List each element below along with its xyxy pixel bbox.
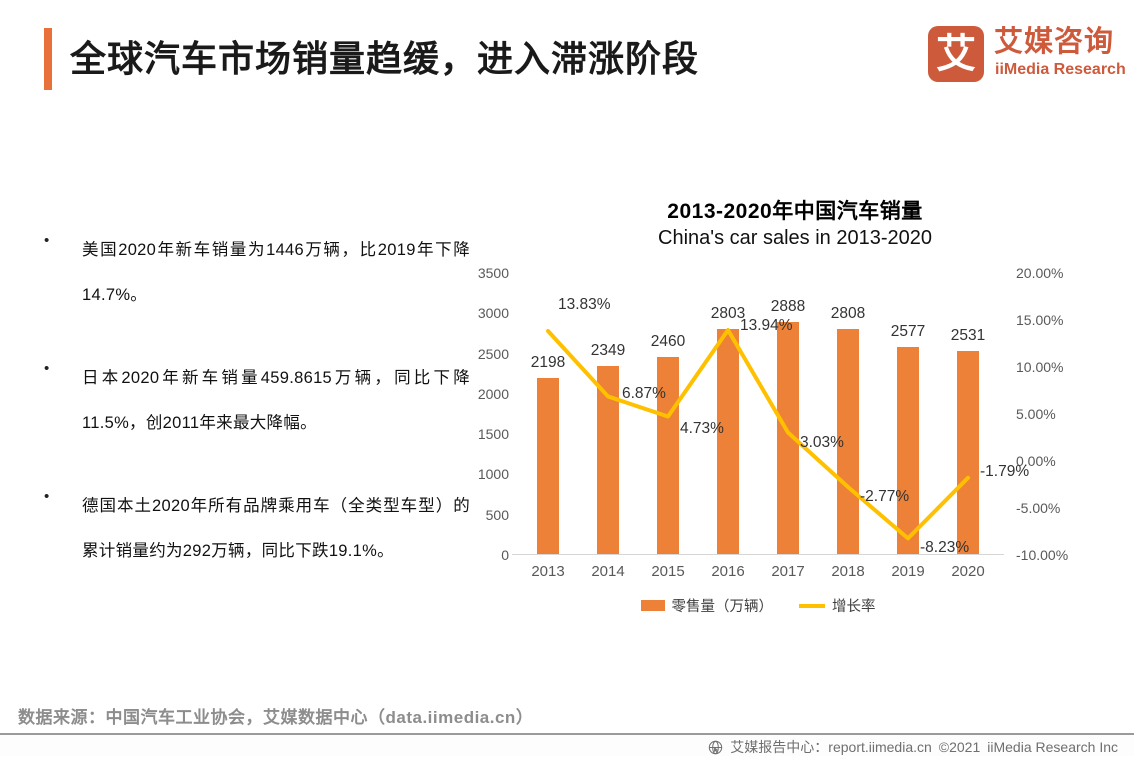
growth-line-series xyxy=(518,273,998,555)
page-title: 全球汽车市场销量趋缓，进入滞涨阶段 xyxy=(70,30,699,88)
y-axis-left-tick: 3500 xyxy=(478,265,509,281)
chart-subtitle: China's car sales in 2013-2020 xyxy=(470,227,1120,250)
chart-legend: 零售量（万辆） 增长率 xyxy=(518,595,998,616)
legend-label-bar: 零售量（万辆） xyxy=(672,595,774,616)
list-item: • 日本2020年新车销量459.8615万辆，同比下降11.5%，创2011年… xyxy=(40,356,470,446)
bullet-marker: • xyxy=(44,232,56,250)
x-axis-tick: 2013 xyxy=(531,563,564,580)
growth-rate-line xyxy=(548,330,968,538)
title-accent-bar xyxy=(44,28,52,90)
x-axis-tick: 2018 xyxy=(831,563,864,580)
legend-item-line: 增长率 xyxy=(799,595,876,616)
chart-title: 2013-2020年中国汽车销量 xyxy=(470,195,1120,225)
list-item: • 德国本土2020年所有品牌乘用车（全类型车型）的累计销量约为292万辆，同比… xyxy=(40,484,470,574)
sales-chart: 2013-2020年中国汽车销量 China's car sales in 20… xyxy=(470,185,1120,625)
growth-rate-label: 4.73% xyxy=(680,420,724,438)
x-axis-tick: 2016 xyxy=(711,563,744,580)
legend-swatch-bar-icon xyxy=(641,600,665,611)
bar-value-label: 2808 xyxy=(831,305,865,323)
y-axis-right-tick: 20.00% xyxy=(1016,265,1063,281)
bullet-text: 美国2020年新车销量为1446万辆，比2019年下降14.7%。 xyxy=(82,228,470,318)
x-axis-tick: 2015 xyxy=(651,563,684,580)
y-axis-right-tick: 5.00% xyxy=(1016,406,1056,422)
y-axis-left-tick: 2500 xyxy=(478,346,509,362)
data-source-note: 数据来源：中国汽车工业协会，艾媒数据中心（data.iimedia.cn） xyxy=(18,703,533,728)
list-item: • 美国2020年新车销量为1446万辆，比2019年下降14.7%。 xyxy=(40,228,470,318)
legend-swatch-line-icon xyxy=(799,604,825,608)
x-axis-tick: 2014 xyxy=(591,563,624,580)
growth-rate-label: 6.87% xyxy=(622,385,666,403)
y-axis-right-tick: -10.00% xyxy=(1016,547,1068,563)
y-axis-left-tick: 0 xyxy=(501,547,509,563)
bullet-marker: • xyxy=(44,360,56,378)
bullet-text: 日本2020年新车销量459.8615万辆，同比下降11.5%，创2011年来最… xyxy=(82,356,470,446)
axis-baseline xyxy=(512,554,1004,555)
x-axis-tick: 2020 xyxy=(951,563,984,580)
company-name: iiMedia Research Inc xyxy=(987,739,1118,755)
x-axis-tick: 2019 xyxy=(891,563,924,580)
page-header: 全球汽车市场销量趋缓，进入滞涨阶段 艾 艾媒咨询 iiMedia Researc… xyxy=(0,0,1134,108)
bullet-marker: • xyxy=(44,488,56,506)
chart-plot-area: 0500100015002000250030003500 -10.00%-5.0… xyxy=(518,273,998,555)
legend-item-bar: 零售量（万辆） xyxy=(641,595,774,616)
bar-value-label: 2531 xyxy=(951,327,985,345)
bar-value-label: 2460 xyxy=(651,333,685,351)
growth-rate-label: 3.03% xyxy=(800,434,844,452)
bar-value-label: 2888 xyxy=(771,298,805,316)
bullet-text: 德国本土2020年所有品牌乘用车（全类型车型）的累计销量约为292万辆，同比下跌… xyxy=(82,484,470,574)
y-axis-right-tick: 10.00% xyxy=(1016,359,1063,375)
logo-mark-glyph: 艾 xyxy=(928,26,984,82)
bar-value-label: 2198 xyxy=(531,354,565,372)
y-axis-left-tick: 3000 xyxy=(478,305,509,321)
copyright-text: ©2021 xyxy=(939,739,980,755)
logo-mark-icon: 艾 xyxy=(928,26,984,82)
y-axis-left-tick: 1000 xyxy=(478,466,509,482)
y-axis-left-tick: 2000 xyxy=(478,386,509,402)
growth-rate-label: -2.77% xyxy=(860,488,909,506)
y-axis-left-tick: 500 xyxy=(486,507,509,523)
y-axis-left-tick: 1500 xyxy=(478,426,509,442)
report-center-link[interactable]: 艾媒报告中心：report.iimedia.cn xyxy=(730,737,932,757)
legend-label-line: 增长率 xyxy=(832,595,876,616)
growth-rate-label: 13.83% xyxy=(558,296,611,314)
logo-name-en: iiMedia Research xyxy=(995,60,1126,80)
x-axis-tick: 2017 xyxy=(771,563,804,580)
bar-value-label: 2577 xyxy=(891,323,925,341)
growth-rate-label: 13.94% xyxy=(740,317,793,335)
footer-content: 艾媒报告中心：report.iimedia.cn ©2021 iiMedia R… xyxy=(708,737,1118,757)
y-axis-right-tick: 15.00% xyxy=(1016,312,1063,328)
brand-logo: 艾 艾媒咨询 iiMedia Research xyxy=(928,24,1114,86)
globe-icon xyxy=(708,740,723,755)
logo-name-cn: 艾媒咨询 xyxy=(994,26,1114,58)
bar-value-label: 2349 xyxy=(591,342,625,360)
bullet-list: • 美国2020年新车销量为1446万辆，比2019年下降14.7%。 • 日本… xyxy=(40,228,470,612)
growth-rate-label: -1.79% xyxy=(980,463,1029,481)
y-axis-right-tick: -5.00% xyxy=(1016,500,1060,516)
